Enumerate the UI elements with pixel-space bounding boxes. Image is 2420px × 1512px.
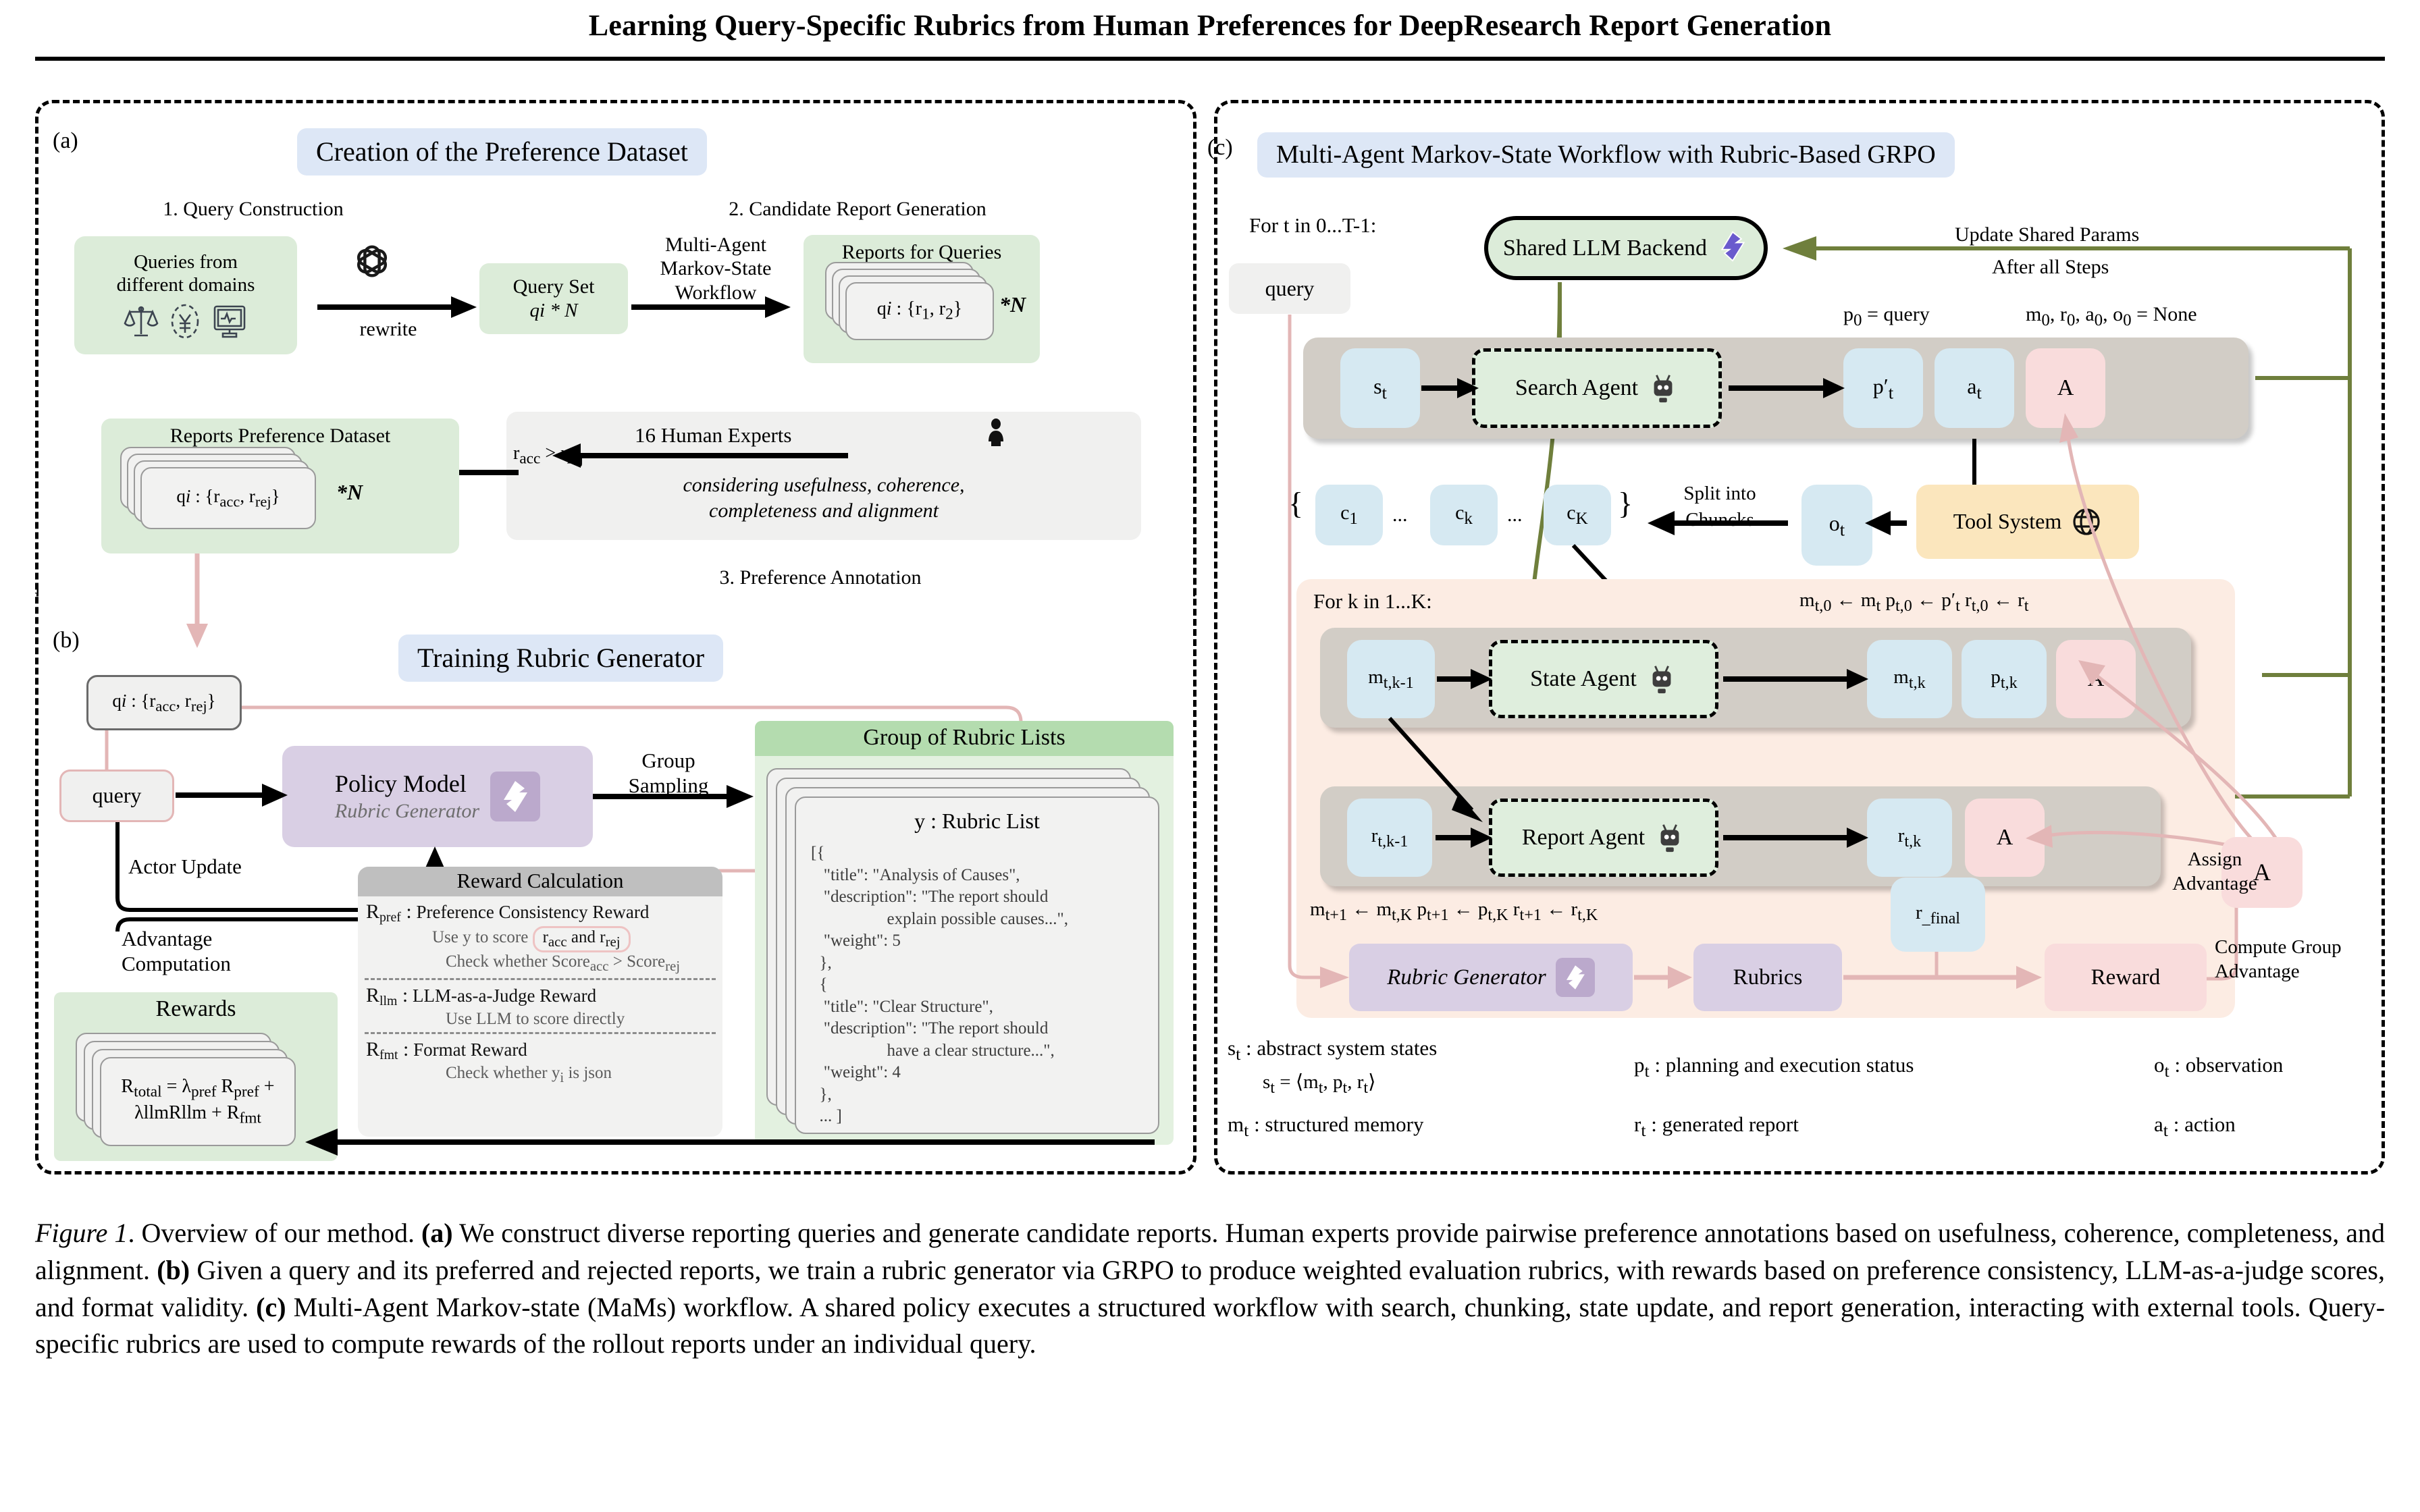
caption-prefix: Figure 1: [35, 1218, 128, 1248]
legend-mt-definition: mt : structured memory: [1228, 1112, 1423, 1141]
legend-sym-st-tuple: st: [1263, 1071, 1275, 1093]
legend-txt-mt: : structured memory: [1254, 1112, 1423, 1136]
legend-sym-st: st: [1228, 1036, 1240, 1060]
legend-at-definition: at : action: [2154, 1112, 2236, 1141]
figure-caption: Figure 1. Overview of our method. (a) We…: [35, 1215, 2385, 1363]
arrows-bottom-flow-c: [0, 0, 2420, 1188]
legend-txt-ot: : observation: [2174, 1053, 2283, 1077]
legend-sym-mt: mt: [1228, 1112, 1248, 1136]
legend-sym-pt: pt: [1634, 1053, 1650, 1077]
legend-sym-ot: ot: [2154, 1053, 2169, 1077]
caption-body: . Overview of our method. (a) We constru…: [35, 1218, 2385, 1359]
legend-txt-pt: : planning and execution status: [1654, 1053, 1914, 1077]
legend-rt-definition: rt : generated report: [1634, 1112, 1799, 1141]
legend-sym-rt: rt: [1634, 1112, 1646, 1136]
compute-group-advantage-label: Compute Group Advantage: [2215, 935, 2377, 984]
legend-sym-at: at: [2154, 1112, 2168, 1136]
legend-txt-at: : action: [2174, 1112, 2236, 1136]
legend-txt-st: : abstract system states: [1246, 1036, 1437, 1060]
legend-ot-definition: ot : observation: [2154, 1053, 2283, 1081]
legend-txt-rt: : generated report: [1651, 1112, 1799, 1136]
legend-st-definition: st : abstract system states: [1228, 1036, 1437, 1064]
legend-txt-st-tuple: = ⟨mt, pt, rt⟩: [1280, 1071, 1375, 1093]
legend-st-tuple: st = ⟨mt, pt, rt⟩: [1263, 1070, 1375, 1098]
legend-pt-definition: pt : planning and execution status: [1634, 1053, 1914, 1081]
assign-advantage-label: Assign Advantage: [2147, 847, 2282, 896]
